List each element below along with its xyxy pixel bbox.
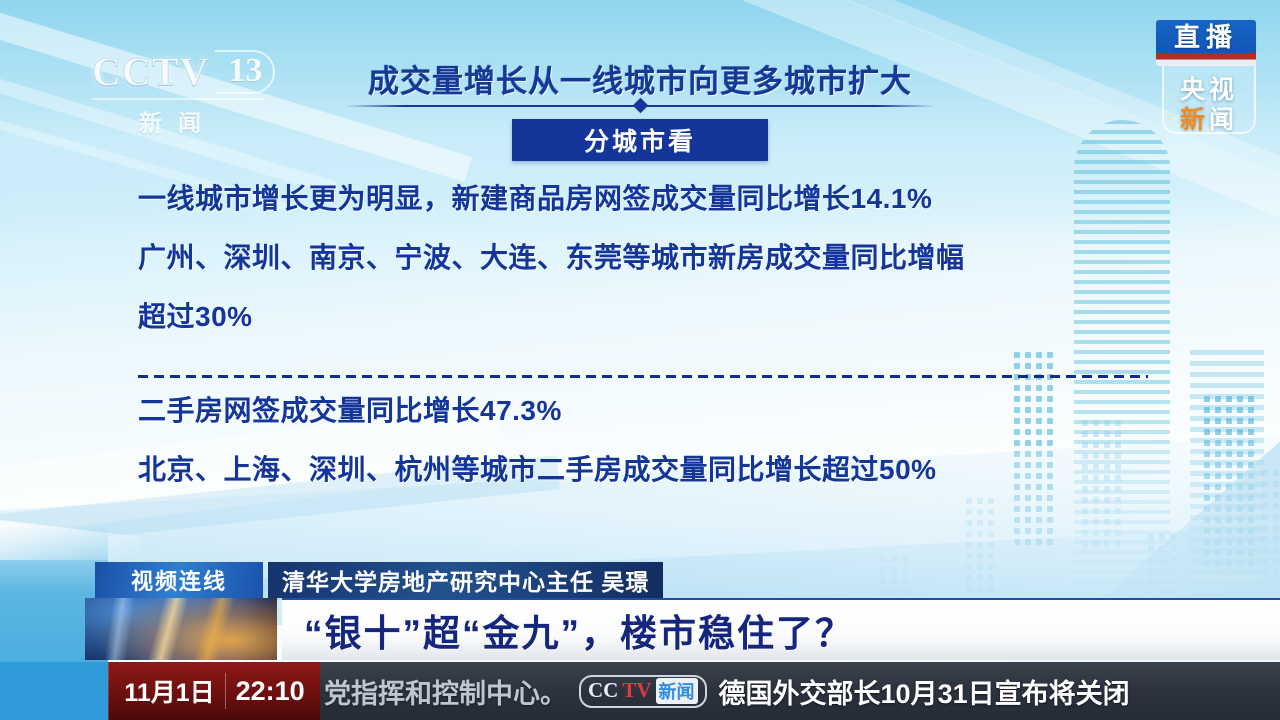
headline-text: “银十”超“金九”，楼市稳住了？	[304, 603, 854, 657]
diamond-icon	[633, 98, 649, 114]
cctv-news-logo-icon: CCTV新闻	[579, 675, 707, 708]
title-divider	[345, 100, 935, 112]
content-line: 广州、深圳、南京、宁波、大连、东莞等城市新房成交量同比增幅	[138, 244, 965, 272]
content-line: 超过30%	[138, 303, 253, 331]
live-badge-bottom-orange: 新	[1180, 106, 1209, 134]
section-badge: 分城市看	[512, 119, 768, 161]
cctv-logo-tv: TV	[622, 678, 651, 703]
content-line: 二手房网签成交量同比增长47.3%	[138, 397, 562, 425]
headline-banner: “银十”超“金九”，楼市稳住了？	[282, 598, 1280, 660]
broadcast-stage: CCTV 13 新闻 直播 央视 新闻 成交量增长从一线城市向更多城市扩大 分城…	[0, 0, 1280, 720]
news-ticker: 11月1日 22:10 党指挥和控制中心。 CCTV新闻 德国外交部长10月31…	[0, 662, 1280, 720]
cctv-logo-cc: CC	[588, 678, 618, 703]
content-line: 一线城市增长更为明显，新建商品房网签成交量同比增长14.1%	[138, 185, 932, 213]
live-label: 直播	[1174, 20, 1238, 54]
live-badge-bottom: 新闻	[1164, 100, 1254, 136]
connection-mode-badge: 视频连线	[95, 562, 263, 598]
globe-icon	[85, 598, 277, 660]
ticker-next-item: 德国外交部长10月31日宣布将关闭	[719, 672, 1130, 711]
guest-name-label: 清华大学房地产研究中心主任 吴璟	[282, 563, 649, 597]
lower-third-bar: 视频连线 清华大学房地产研究中心主任 吴璟	[95, 562, 663, 598]
channel-logo-subtitle: 新闻	[92, 98, 264, 138]
connection-mode-label: 视频连线	[131, 564, 227, 596]
live-badge-bottom-white: 闻	[1209, 106, 1238, 134]
cctv-logo-news: 新闻	[656, 678, 698, 704]
ticker-date: 11月1日	[124, 673, 214, 709]
ticker-time: 22:10	[236, 676, 305, 707]
guest-name-badge: 清华大学房地产研究中心主任 吴璟	[268, 562, 663, 598]
ticker-left-block	[0, 662, 108, 720]
ticker-timestamp: 11月1日 22:10	[108, 662, 320, 720]
content-line: 北京、上海、深圳、杭州等城市二手房成交量同比增长超过50%	[138, 456, 937, 484]
page-title: 成交量增长从一线城市向更多城市扩大	[0, 56, 1280, 101]
section-badge-label: 分城市看	[584, 122, 696, 158]
ticker-separator	[225, 673, 226, 709]
ticker-content: 党指挥和控制中心。 CCTV新闻 德国外交部长10月31日宣布将关闭	[320, 662, 1280, 720]
ticker-previous-item: 党指挥和控制中心。	[324, 672, 567, 711]
dashed-divider	[138, 375, 1148, 378]
